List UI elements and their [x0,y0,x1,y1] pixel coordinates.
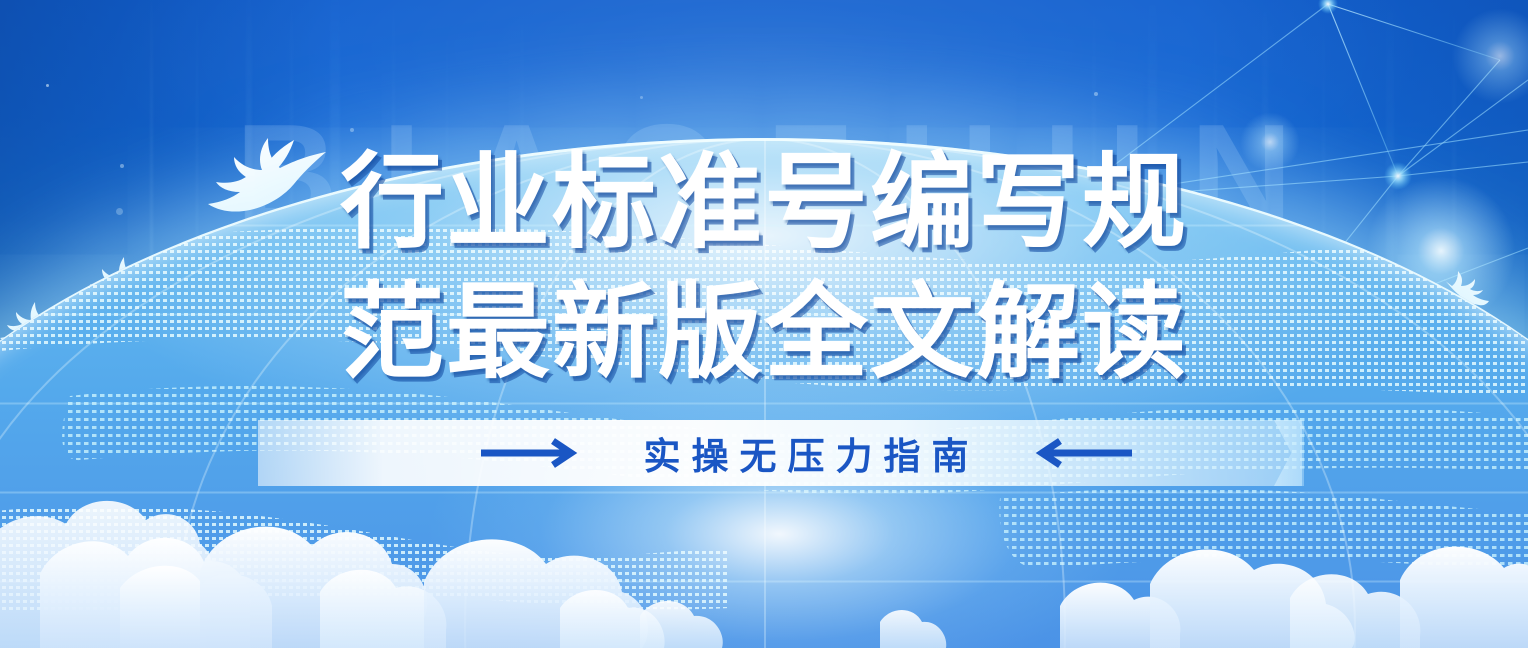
dove-icon [1436,400,1510,456]
watermark-pinyin: BIAOZHUN [0,104,1528,246]
speck [640,96,643,99]
subtitle-text: 实操无压力指南 [633,426,980,480]
promo-banner: BIAOZHUN [0,0,1528,648]
dove-icon [332,317,398,365]
dove-icon [1444,270,1490,306]
subtitle-ribbon-content: 实操无压力指南 [258,420,1304,486]
speck [540,332,544,336]
arrow-right-long-icon [479,438,579,468]
dove-icon [0,300,56,344]
dove-icon [206,132,330,218]
globe-latitude-lines [0,138,1528,648]
globe-longitude-lines [0,138,1528,648]
globe-sphere [0,138,1528,648]
horizon-light-burst [0,348,1528,648]
speck [290,236,295,241]
network-lines-right [1008,0,1528,470]
globe-rim-highlight [0,138,1528,648]
speck [116,208,123,215]
speck [120,164,124,168]
title-line-2: 范最新版全文解读 [0,272,1528,394]
glint-top-right [1452,8,1528,104]
speck [182,336,187,341]
speck [1420,300,1426,306]
glint-node-mid [1240,112,1300,172]
speck [46,84,49,87]
arrow-left-long-icon [1034,438,1134,468]
speck [350,128,354,132]
speck [1310,330,1314,334]
speck [1094,92,1098,96]
digital-globe [0,138,1528,648]
title-line-1: 行业标准号编写规 [0,142,1528,264]
cloud-bank [0,458,1528,648]
glint-upper-right [1366,176,1516,326]
dove-icon [1366,370,1426,416]
speck [1222,268,1227,273]
sky-gradient-overlay [0,0,1528,648]
globe-continents [0,138,1528,648]
dove-icon [82,255,148,307]
speck [1012,372,1016,376]
